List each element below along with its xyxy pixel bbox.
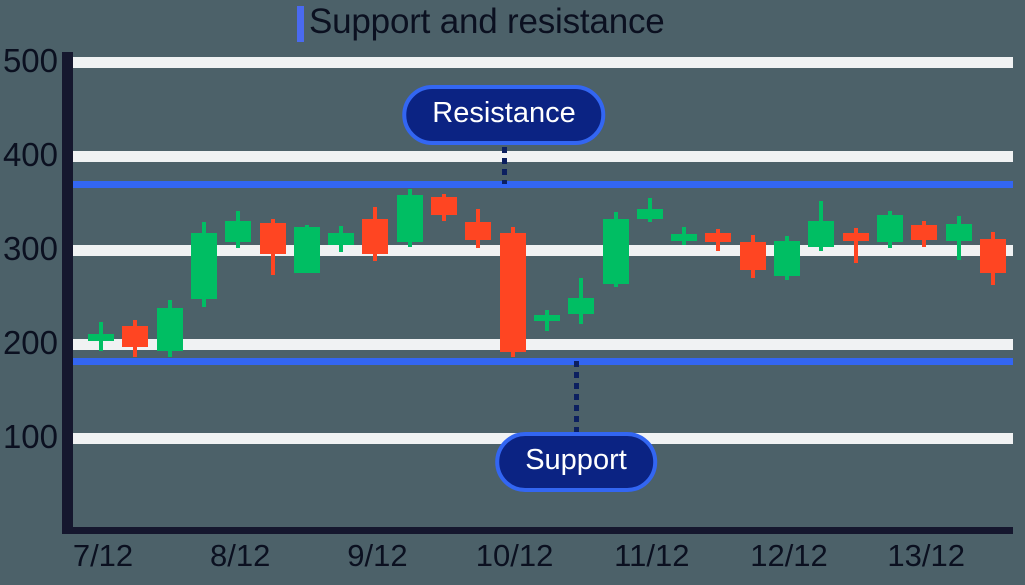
- title-accent-bar: [297, 6, 304, 42]
- chart-canvas: Support and resistance 100200300400500 7…: [0, 0, 1025, 585]
- gridline-500: [68, 57, 1013, 68]
- candlestick: [500, 227, 526, 357]
- candle-body: [225, 221, 251, 243]
- y-axis-spine: [62, 52, 73, 534]
- gridline-200: [68, 339, 1013, 350]
- candle-body: [157, 308, 183, 350]
- candle-body: [774, 241, 800, 277]
- candlestick: [568, 278, 594, 324]
- x-tick-label: 11/12: [614, 538, 689, 574]
- candlestick: [362, 207, 388, 262]
- candle-body: [946, 224, 972, 241]
- candlestick: [260, 219, 286, 275]
- candlestick: [740, 235, 766, 278]
- candlestick: [191, 222, 217, 308]
- candle-body: [397, 195, 423, 242]
- y-tick-label: 200: [3, 326, 58, 359]
- chart-title-row: Support and resistance: [0, 0, 1025, 48]
- y-axis-labels: 100200300400500: [0, 0, 58, 585]
- x-axis-labels: 7/128/129/1210/1211/1212/1213/12: [0, 538, 1025, 583]
- candle-body: [294, 227, 320, 273]
- candle-body: [500, 233, 526, 351]
- y-tick-label: 400: [3, 138, 58, 171]
- candlestick: [534, 310, 560, 331]
- candlestick: [294, 225, 320, 274]
- support-level-line: [68, 358, 1013, 365]
- x-axis-spine: [62, 527, 1013, 534]
- x-tick-label: 8/12: [210, 538, 270, 574]
- resistance-level-line: [68, 181, 1013, 188]
- candlestick: [225, 211, 251, 249]
- candlestick: [122, 320, 148, 358]
- candlestick: [808, 201, 834, 251]
- x-tick-label: 7/12: [73, 538, 133, 574]
- candle-body: [980, 239, 1006, 274]
- candlestick: [431, 194, 457, 221]
- candle-body: [671, 234, 697, 241]
- candlestick: [980, 232, 1006, 285]
- candlestick: [88, 322, 114, 350]
- page-title: Support and resistance: [309, 2, 665, 42]
- candlestick: [843, 228, 869, 263]
- candle-body: [877, 215, 903, 242]
- candle-body: [122, 326, 148, 347]
- candle-body: [808, 221, 834, 247]
- candle-body: [260, 223, 286, 254]
- candlestick: [774, 236, 800, 280]
- candle-body: [568, 298, 594, 314]
- candlestick: [328, 226, 354, 252]
- candlestick: [911, 221, 937, 247]
- candlestick: [877, 211, 903, 248]
- candlestick: [397, 189, 423, 247]
- candlestick: [465, 209, 491, 248]
- candle-body: [191, 233, 217, 299]
- support-connector-line: [574, 361, 579, 432]
- candlestick: [603, 212, 629, 286]
- candle-body: [603, 219, 629, 284]
- y-tick-label: 500: [3, 44, 58, 77]
- y-tick-label: 300: [3, 232, 58, 265]
- candle-body: [362, 219, 388, 254]
- x-tick-label: 9/12: [347, 538, 407, 574]
- resistance-badge[interactable]: Resistance: [402, 85, 605, 145]
- candle-body: [740, 242, 766, 270]
- candlestick: [157, 300, 183, 357]
- x-tick-label: 12/12: [750, 538, 828, 574]
- x-tick-label: 13/12: [887, 538, 965, 574]
- gridline-400: [68, 151, 1013, 162]
- candlestick: [946, 216, 972, 260]
- candle-body: [534, 315, 560, 322]
- candle-body: [328, 233, 354, 245]
- y-tick-label: 100: [3, 420, 58, 453]
- x-tick-label: 10/12: [476, 538, 554, 574]
- candle-body: [431, 197, 457, 215]
- candle-body: [843, 233, 869, 241]
- candle-body: [637, 209, 663, 219]
- candlestick: [671, 227, 697, 245]
- candlestick: [705, 229, 731, 251]
- candle-body: [465, 222, 491, 240]
- candle-body: [911, 225, 937, 240]
- candle-body: [705, 233, 731, 242]
- candle-body: [88, 334, 114, 342]
- candlestick: [637, 198, 663, 222]
- support-badge[interactable]: Support: [495, 432, 657, 492]
